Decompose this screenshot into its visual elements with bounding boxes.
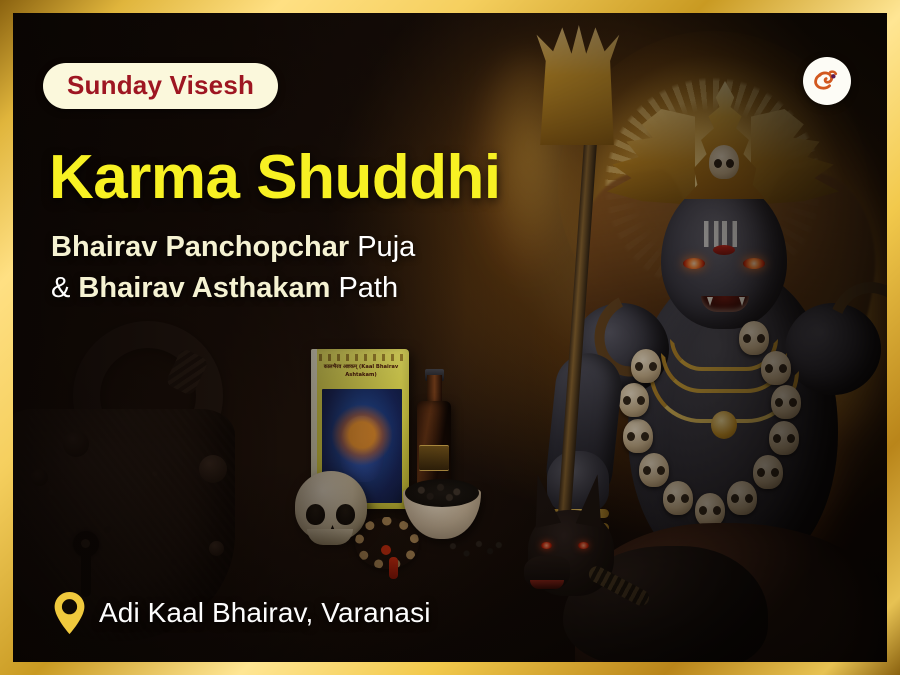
poster-headline: Karma Shuddhi (49, 147, 501, 209)
subtitle-line-1-rest: Puja (357, 231, 415, 263)
subtitle-line-2: & Bhairav Asthakam Path (51, 268, 415, 309)
poster-root: कालभैरव अष्टकम् (Kaal Bhairav Ashtakam) (0, 0, 900, 675)
poster-inner-frame: कालभैरव अष्टकम् (Kaal Bhairav Ashtakam) (13, 13, 887, 662)
brand-logo (803, 57, 851, 105)
location-label: Adi Kaal Bhairav, Varanasi (99, 597, 431, 629)
content-layer: Sunday Visesh Karma Shuddhi Bhairav Panc… (13, 13, 887, 662)
subtitle-line-2-bold: Bhairav Asthakam (78, 272, 330, 304)
poster-subtitle: Bhairav Panchopchar Puja & Bhairav Astha… (51, 227, 415, 309)
subtitle-line-1: Bhairav Panchopchar Puja (51, 227, 415, 268)
subtitle-line-1-bold: Bhairav Panchopchar (51, 231, 349, 263)
location-pin-icon (53, 591, 86, 635)
subtitle-line-2-rest: Path (338, 272, 398, 304)
om-symbol-icon (810, 64, 844, 98)
venue-location: Adi Kaal Bhairav, Varanasi (53, 591, 431, 635)
sunday-visesh-badge: Sunday Visesh (43, 63, 278, 109)
subtitle-line-2-prefix: & (51, 272, 70, 304)
